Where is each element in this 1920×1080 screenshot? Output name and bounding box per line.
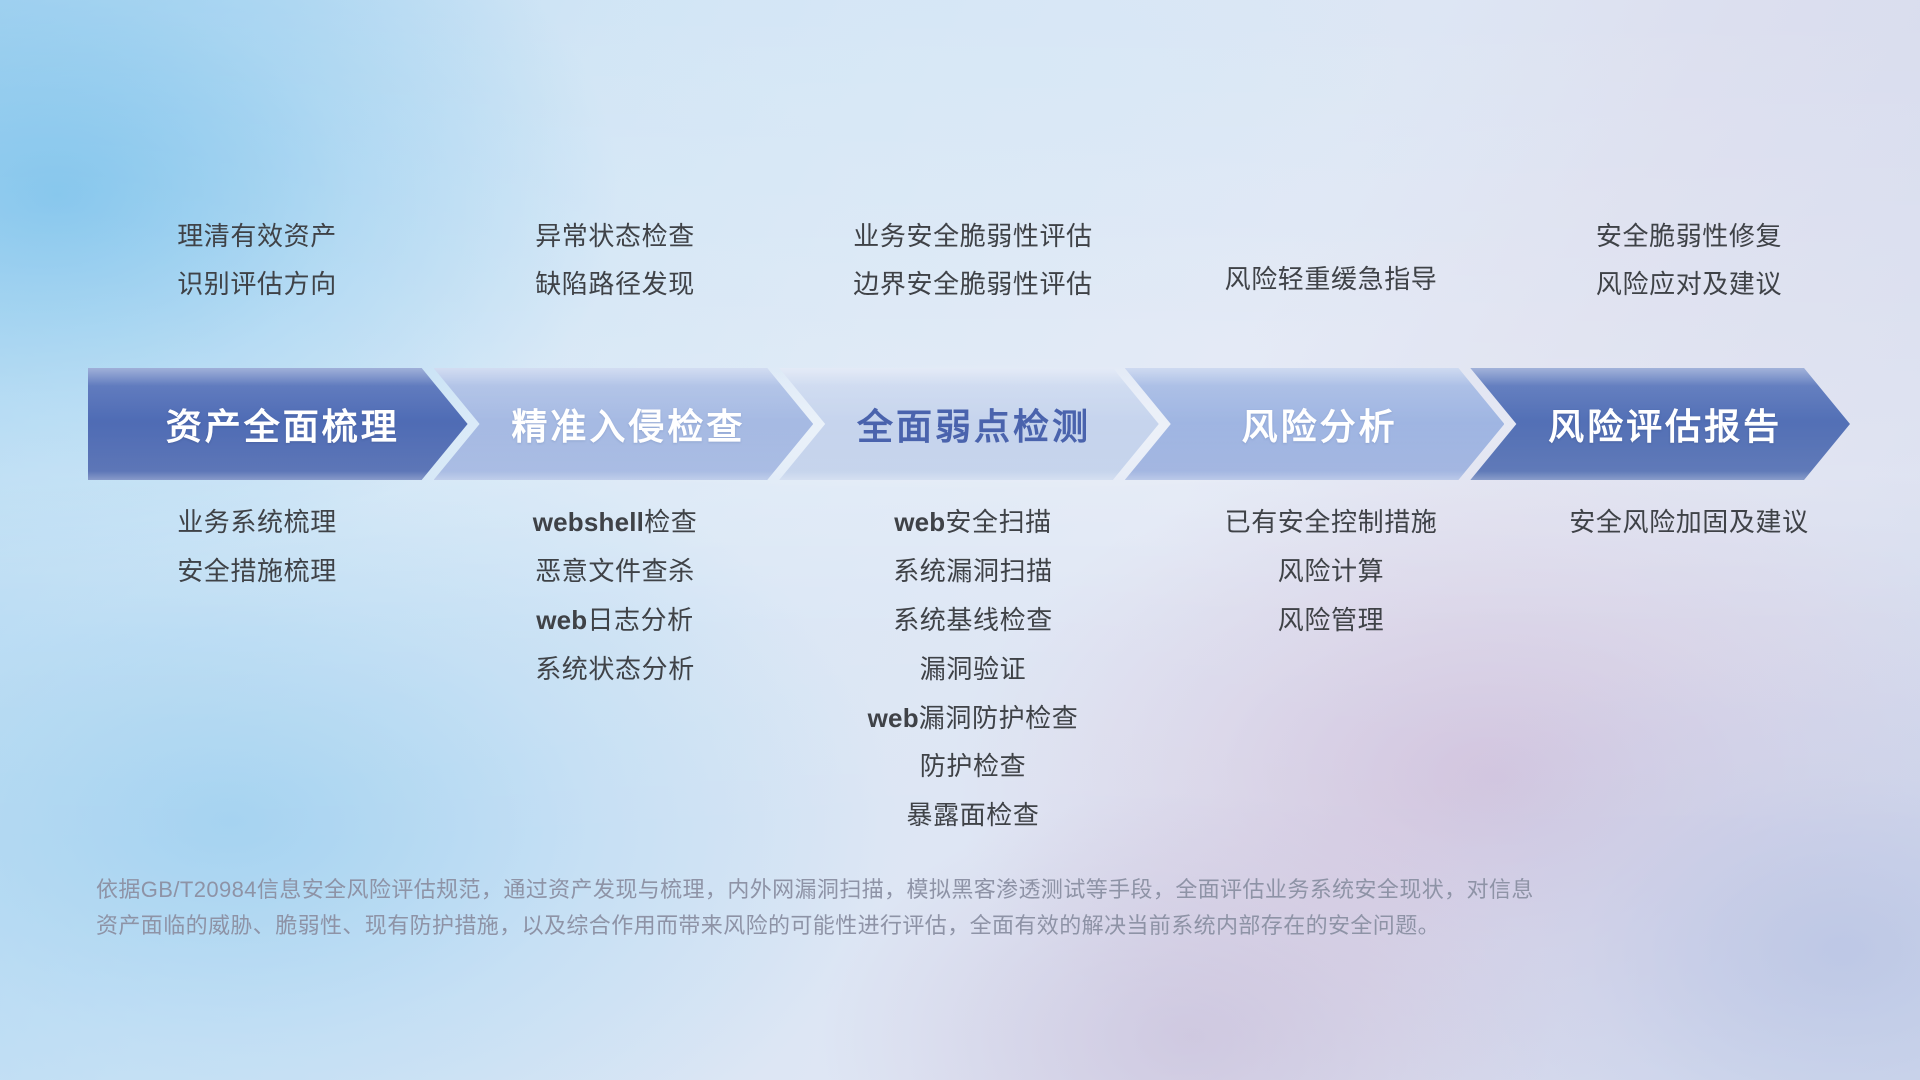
stage-detail-item: 防护检查 — [920, 752, 1026, 782]
stage-detail-item: 安全风险加固及建议 — [1569, 508, 1808, 538]
stage-detail-column: webshell检查恶意文件查杀web日志分析系统状态分析 — [436, 508, 794, 685]
top-note: 风险应对及建议 — [1596, 270, 1782, 299]
stage-detail-item-latin: web — [894, 507, 945, 537]
stage-detail-item: 系统状态分析 — [535, 655, 695, 685]
stage-detail-item-latin: web — [536, 605, 587, 635]
process-stage-label: 风险评估报告 — [1538, 398, 1782, 450]
stage-detail-item: 已有安全控制措施 — [1225, 508, 1438, 538]
top-note: 安全脆弱性修复 — [1596, 222, 1782, 251]
process-stage-label: 精准入侵检查 — [501, 398, 745, 450]
stage-detail-item-text: 漏洞防护检查 — [919, 703, 1079, 733]
process-stage-arrow[interactable]: 资产全面梳理 — [88, 368, 468, 480]
top-note-column: 业务安全脆弱性评估边界安全脆弱性评估 — [794, 222, 1152, 342]
top-note: 风险轻重缓急指导 — [1225, 265, 1438, 294]
stage-detail-item: webshell检查 — [533, 508, 698, 538]
top-note: 缺陷路径发现 — [535, 270, 695, 299]
process-stage-arrow[interactable]: 精准入侵检查 — [434, 368, 814, 480]
stage-detail-item-latin: webshell — [533, 507, 644, 537]
stage-detail-item: 系统基线检查 — [893, 606, 1053, 636]
process-stage-label: 资产全面梳理 — [156, 398, 400, 450]
top-note-column: 风险轻重缓急指导 — [1152, 222, 1510, 342]
stage-detail-item: 风险计算 — [1278, 557, 1384, 587]
top-note-column: 理清有效资产识别评估方向 — [78, 222, 436, 342]
stage-detail-item: 暴露面检查 — [906, 801, 1039, 831]
stage-detail-item: 系统漏洞扫描 — [893, 557, 1053, 587]
stage-detail-item: 安全措施梳理 — [177, 557, 337, 587]
process-stage-label: 风险分析 — [1232, 398, 1398, 450]
stage-detail-lists: 业务系统梳理安全措施梳理webshell检查恶意文件查杀web日志分析系统状态分… — [78, 508, 1868, 831]
process-stage-arrow[interactable]: 风险评估报告 — [1470, 368, 1850, 480]
process-stage-label: 全面弱点检测 — [847, 398, 1091, 450]
stage-detail-item: web日志分析 — [536, 606, 694, 636]
top-note-column: 异常状态检查缺陷路径发现 — [436, 222, 794, 342]
top-note-column: 安全脆弱性修复风险应对及建议 — [1510, 222, 1868, 342]
stage-detail-item-text: 检查 — [644, 507, 697, 537]
process-stage-arrow[interactable]: 风险分析 — [1125, 368, 1505, 480]
stage-detail-item: web安全扫描 — [894, 508, 1052, 538]
top-notes-row: 理清有效资产识别评估方向异常状态检查缺陷路径发现业务安全脆弱性评估边界安全脆弱性… — [78, 222, 1868, 342]
stage-detail-item: 业务系统梳理 — [177, 508, 337, 538]
stage-detail-item: 漏洞验证 — [920, 655, 1026, 685]
stage-detail-column: 已有安全控制措施风险计算风险管理 — [1152, 508, 1510, 636]
top-note: 识别评估方向 — [177, 270, 337, 299]
footer-line: 资产面临的威胁、脆弱性、现有防护措施，以及综合作用而带来风险的可能性进行评估，全… — [96, 908, 1666, 944]
stage-detail-column: 安全风险加固及建议 — [1510, 508, 1868, 538]
process-stage-arrow[interactable]: 全面弱点检测 — [779, 368, 1159, 480]
stage-detail-item: web漏洞防护检查 — [868, 704, 1079, 734]
stage-detail-item: 恶意文件查杀 — [535, 557, 695, 587]
top-note: 边界安全脆弱性评估 — [853, 270, 1092, 299]
top-note: 理清有效资产 — [177, 222, 337, 251]
process-arrow-banner: 资产全面梳理精准入侵检查全面弱点检测风险分析风险评估报告 — [88, 368, 1850, 480]
stage-detail-column: 业务系统梳理安全措施梳理 — [78, 508, 436, 587]
stage-detail-item: 风险管理 — [1278, 606, 1384, 636]
top-note: 业务安全脆弱性评估 — [853, 222, 1092, 251]
footer-description: 依据GB/T20984信息安全风险评估规范，通过资产发现与梳理，内外网漏洞扫描，… — [96, 872, 1666, 943]
stage-detail-item-text: 安全扫描 — [945, 507, 1051, 537]
top-note: 异常状态检查 — [535, 222, 695, 251]
slide-canvas: 理清有效资产识别评估方向异常状态检查缺陷路径发现业务安全脆弱性评估边界安全脆弱性… — [0, 0, 1920, 1080]
stage-detail-item-text: 日志分析 — [587, 605, 693, 635]
stage-detail-item-latin: web — [868, 703, 919, 733]
stage-detail-column: web安全扫描系统漏洞扫描系统基线检查漏洞验证web漏洞防护检查防护检查暴露面检… — [794, 508, 1152, 831]
footer-line: 依据GB/T20984信息安全风险评估规范，通过资产发现与梳理，内外网漏洞扫描，… — [96, 872, 1666, 908]
